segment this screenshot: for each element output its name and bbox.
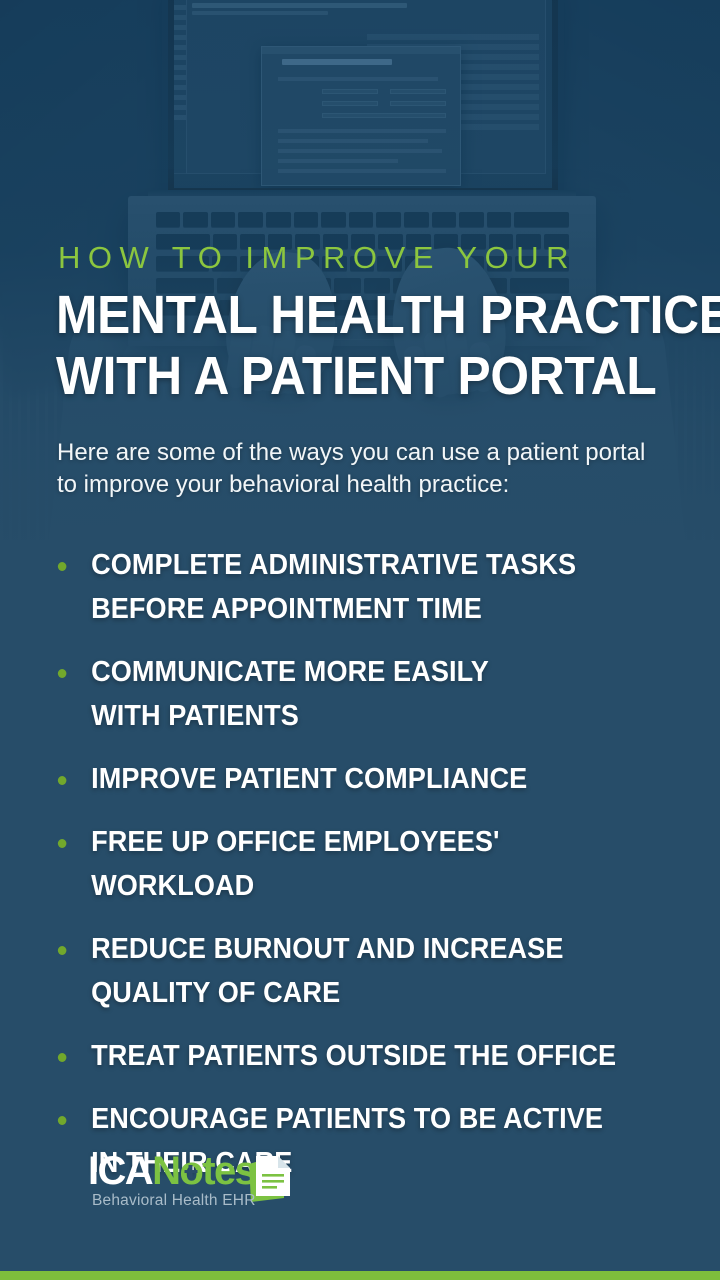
list-item-label: REDUCE BURNOUT AND INCREASE — [91, 927, 672, 971]
eyebrow-text: HOW TO IMPROVE YOUR — [58, 240, 576, 276]
list-item: COMPLETE ADMINISTRATIVE TASKS BEFORE APP… — [55, 543, 673, 631]
headline-line-2: WITH A PATIENT PORTAL — [56, 346, 645, 407]
bullet-dot-icon — [58, 839, 67, 848]
intro-paragraph: Here are some of the ways you can use a … — [57, 437, 667, 501]
list-item: REDUCE BURNOUT AND INCREASE QUALITY OF C… — [55, 927, 673, 1015]
logo-o-with-cross: o — [179, 1150, 202, 1192]
list-item: COMMUNICATE MORE EASILY WITH PATIENTS — [55, 650, 673, 738]
page-title: MENTAL HEALTH PRACTICE WITH A PATIENT PO… — [56, 285, 645, 407]
list-item-label: ENCOURAGE PATIENTS TO BE ACTIVE — [91, 1097, 672, 1141]
list-item-label: COMPLETE ADMINISTRATIVE TASKS — [91, 543, 672, 587]
logo-ica-text: ICA — [88, 1149, 152, 1193]
bullet-dot-icon — [58, 562, 67, 571]
logo-wordmark: ICANotes — [88, 1150, 255, 1192]
logo-tagline: Behavioral Health EHR — [92, 1192, 256, 1210]
list-item-label: COMMUNICATE MORE EASILY — [91, 650, 672, 694]
poster-content: HOW TO IMPROVE YOUR MENTAL HEALTH PRACTI… — [0, 0, 720, 1280]
list-item-label-line2: BEFORE APPOINTMENT TIME — [91, 587, 672, 631]
list-item-label: TREAT PATIENTS OUTSIDE THE OFFICE — [91, 1034, 672, 1078]
list-item-label-line2: WITH PATIENTS — [91, 694, 672, 738]
list-item-label-line2: WORKLOAD — [91, 864, 672, 908]
list-item-label-line2: QUALITY OF CARE — [91, 971, 672, 1015]
headline-line-1: MENTAL HEALTH PRACTICE — [56, 285, 645, 346]
list-item-label: IMPROVE PATIENT COMPLIANCE — [91, 757, 672, 801]
bullet-dot-icon — [58, 669, 67, 678]
bottom-accent-bar — [0, 1271, 720, 1280]
bullet-dot-icon — [58, 1053, 67, 1062]
benefits-list: COMPLETE ADMINISTRATIVE TASKS BEFORE APP… — [55, 543, 705, 1204]
bullet-dot-icon — [58, 1116, 67, 1125]
bullet-dot-icon — [58, 946, 67, 955]
medical-cross-icon — [184, 1165, 197, 1178]
list-item: TREAT PATIENTS OUTSIDE THE OFFICE — [55, 1034, 673, 1078]
list-item: FREE UP OFFICE EMPLOYEES' WORKLOAD — [55, 820, 673, 908]
infographic-poster: HOW TO IMPROVE YOUR MENTAL HEALTH PRACTI… — [0, 0, 720, 1280]
list-item: IMPROVE PATIENT COMPLIANCE — [55, 757, 673, 801]
list-item-label: FREE UP OFFICE EMPLOYEES' — [91, 820, 672, 864]
logo-notes-pre: N — [152, 1149, 179, 1193]
icanotes-logo: ICANotes Behavioral Health EHR — [88, 1148, 298, 1220]
bullet-dot-icon — [58, 776, 67, 785]
